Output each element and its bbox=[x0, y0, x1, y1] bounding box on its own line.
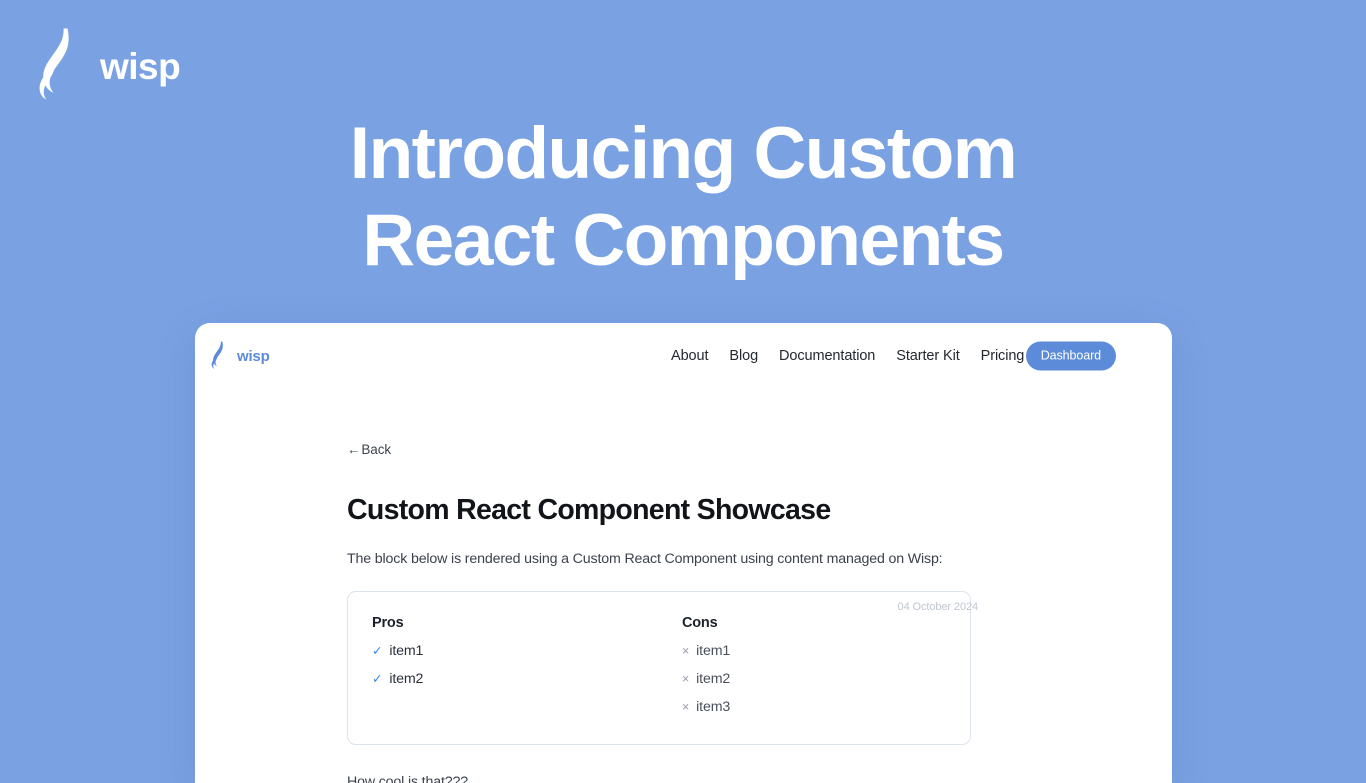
pros-item-label: item2 bbox=[389, 670, 423, 689]
list-item: ✓ item2 bbox=[372, 670, 658, 689]
nav-link-starter-kit[interactable]: Starter Kit bbox=[896, 348, 959, 364]
article-date: 04 October 2024 bbox=[195, 601, 1172, 613]
back-link-label: Back bbox=[361, 442, 391, 457]
article-outro: How cool is that??? bbox=[347, 774, 1172, 783]
hero-headline-line-2: React Components bbox=[180, 198, 1186, 285]
back-link[interactable]: ←Back bbox=[347, 442, 391, 457]
hero-slide: wisp Introducing Custom React Components… bbox=[0, 0, 1366, 768]
brand-wordmark: wisp bbox=[100, 48, 180, 85]
app-brand-wordmark: wisp bbox=[237, 348, 270, 365]
cons-heading: Cons bbox=[682, 615, 968, 631]
list-item: × item3 bbox=[682, 698, 968, 717]
app-navbar: wisp About Blog Documentation Starter Ki… bbox=[195, 323, 1172, 389]
hero-headline: Introducing Custom React Components bbox=[0, 111, 1366, 285]
pros-column: Pros ✓ item1 ✓ item2 bbox=[372, 615, 658, 718]
nav-link-pricing[interactable]: Pricing bbox=[981, 348, 1025, 364]
pros-heading: Pros bbox=[372, 615, 658, 631]
check-icon: ✓ bbox=[372, 645, 382, 658]
wisp-flame-icon bbox=[211, 341, 228, 371]
article-lede: The block below is rendered using a Cust… bbox=[347, 549, 1172, 570]
check-icon: ✓ bbox=[372, 673, 382, 686]
cons-item-label: item1 bbox=[696, 642, 730, 661]
dashboard-button[interactable]: Dashboard bbox=[1026, 342, 1116, 371]
hero-headline-line-1: Introducing Custom bbox=[180, 111, 1186, 198]
list-item: ✓ item1 bbox=[372, 642, 658, 661]
app-nav-links: About Blog Documentation Starter Kit Pri… bbox=[671, 348, 1024, 364]
article-title: Custom React Component Showcase bbox=[347, 494, 1172, 527]
cross-icon: × bbox=[682, 701, 689, 714]
nav-link-documentation[interactable]: Documentation bbox=[779, 348, 875, 364]
cons-item-label: item2 bbox=[696, 670, 730, 689]
wisp-flame-icon bbox=[38, 27, 82, 105]
arrow-left-icon: ← bbox=[347, 442, 360, 457]
cross-icon: × bbox=[682, 673, 689, 686]
cons-column: Cons × item1 × item2 × item3 bbox=[658, 615, 968, 718]
list-item: × item1 bbox=[682, 642, 968, 661]
app-preview-card: wisp About Blog Documentation Starter Ki… bbox=[195, 323, 1172, 783]
app-brand-lockup[interactable]: wisp bbox=[211, 341, 270, 371]
article-body: ←Back Custom React Component Showcase 04… bbox=[195, 389, 1172, 783]
pros-item-label: item1 bbox=[389, 642, 423, 661]
cons-item-label: item3 bbox=[696, 698, 730, 717]
cross-icon: × bbox=[682, 645, 689, 658]
pros-cons-component: Pros ✓ item1 ✓ item2 Cons × item1 bbox=[347, 591, 971, 745]
list-item: × item2 bbox=[682, 670, 968, 689]
nav-link-about[interactable]: About bbox=[671, 348, 708, 364]
nav-link-blog[interactable]: Blog bbox=[729, 348, 758, 364]
brand-lockup: wisp bbox=[38, 27, 180, 105]
